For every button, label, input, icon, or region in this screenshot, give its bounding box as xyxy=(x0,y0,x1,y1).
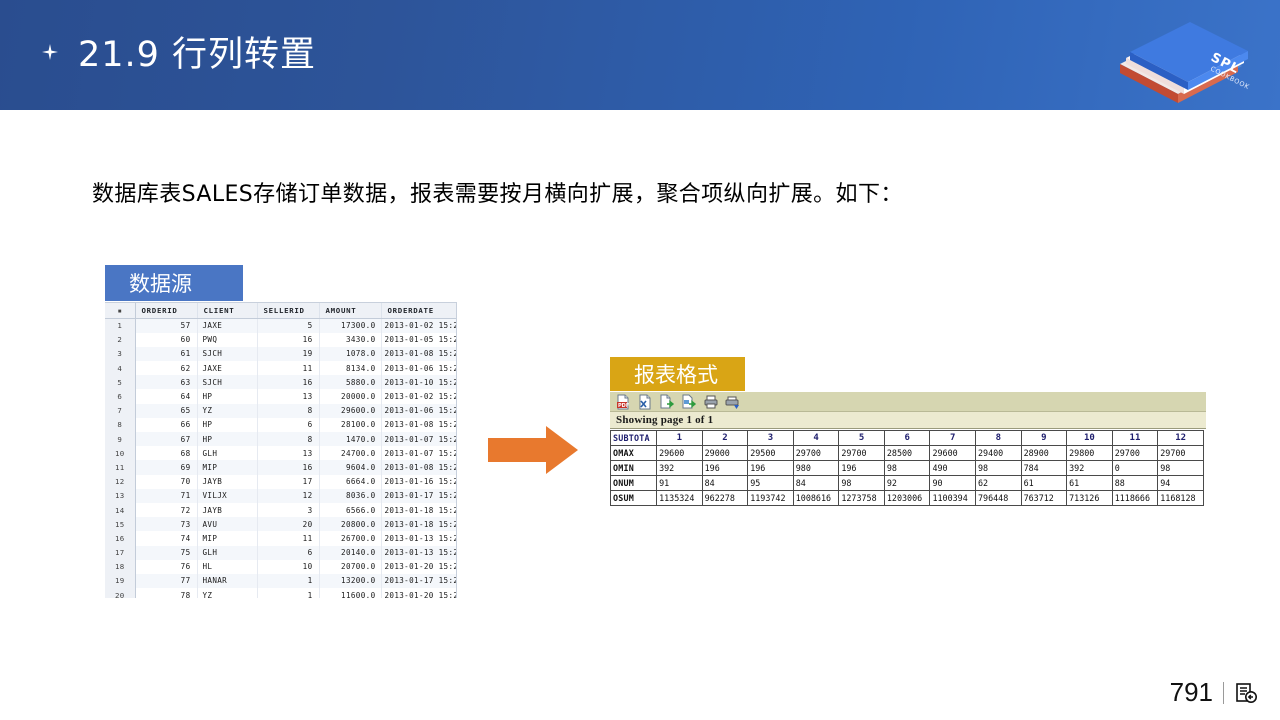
report-column-header-month-7: 7 xyxy=(930,431,976,446)
report-cell: 1193742 xyxy=(748,491,794,506)
row-index: 5 xyxy=(105,375,135,389)
datasource-table-panel: ▪ ORDERID CLIENT SELLERID AMOUNT ORDERDA… xyxy=(105,302,457,598)
cell-sellerid: 1 xyxy=(257,588,319,598)
cell-amount: 8134.0 xyxy=(319,361,381,375)
row-index: 1 xyxy=(105,319,135,333)
report-cell: 29700 xyxy=(793,446,839,461)
cell-client: GLH xyxy=(197,446,257,460)
export-pdf-icon[interactable]: PDF xyxy=(615,394,631,410)
cell-amount: 1470.0 xyxy=(319,432,381,446)
report-label: 报表格式 xyxy=(610,357,745,391)
report-cell: 392 xyxy=(1067,461,1113,476)
cell-amount: 29600.0 xyxy=(319,404,381,418)
cell-client: JAYB xyxy=(197,503,257,517)
slide-header: 21.9 行列转置 SPL COOKBOOK xyxy=(0,0,1280,110)
cell-orderid: 75 xyxy=(135,546,197,560)
report-panel: PDF xyxy=(610,392,1206,510)
cell-orderid: 72 xyxy=(135,503,197,517)
cell-orderid: 60 xyxy=(135,333,197,347)
cell-client: VILJX xyxy=(197,489,257,503)
table-row[interactable]: 1068GLH1324700.02013-01-07 15:28:05 xyxy=(105,446,457,460)
table-row[interactable]: 1977HANAR113200.02013-01-17 15:28:05 xyxy=(105,574,457,588)
report-cell: 84 xyxy=(702,476,748,491)
cell-orderdate: 2013-01-17 15:28:05 xyxy=(381,489,457,503)
column-header-client: CLIENT xyxy=(197,303,257,319)
report-cell: 29700 xyxy=(839,446,885,461)
cell-sellerid: 6 xyxy=(257,418,319,432)
report-cell: 98 xyxy=(839,476,885,491)
cell-sellerid: 13 xyxy=(257,446,319,460)
row-index: 20 xyxy=(105,588,135,598)
report-cell: 98 xyxy=(884,461,930,476)
report-table-row[interactable]: OMIN3921961969801969849098784392098 xyxy=(611,461,1204,476)
report-cell: 196 xyxy=(748,461,794,476)
footer-divider xyxy=(1223,682,1224,704)
cell-amount: 20000.0 xyxy=(319,389,381,403)
cell-sellerid: 16 xyxy=(257,333,319,347)
report-cell: 61 xyxy=(1021,476,1067,491)
cell-amount: 26700.0 xyxy=(319,531,381,545)
report-cell: 29700 xyxy=(1158,446,1204,461)
report-corner-header: SUBTOTA xyxy=(611,431,657,446)
cell-amount: 20140.0 xyxy=(319,546,381,560)
row-index: 7 xyxy=(105,404,135,418)
table-row[interactable]: 1371VILJX128036.02013-01-17 15:28:05 xyxy=(105,489,457,503)
table-row[interactable]: 765YZ829600.02013-01-06 15:28:05 xyxy=(105,404,457,418)
column-header-amount: AMOUNT xyxy=(319,303,381,319)
report-cell: 196 xyxy=(702,461,748,476)
report-cell: 62 xyxy=(976,476,1022,491)
cell-orderid: 73 xyxy=(135,517,197,531)
cell-orderdate: 2013-01-20 15:28:05 xyxy=(381,588,457,598)
table-row[interactable]: 157JAXE517300.02013-01-02 15:28:05 xyxy=(105,319,457,333)
row-index: 17 xyxy=(105,546,135,560)
report-cell: 1100394 xyxy=(930,491,976,506)
cell-amount: 6664.0 xyxy=(319,475,381,489)
cell-orderdate: 2013-01-02 15:28:05 xyxy=(381,389,457,403)
report-column-header-month-9: 9 xyxy=(1021,431,1067,446)
cell-orderid: 68 xyxy=(135,446,197,460)
row-index: 13 xyxy=(105,489,135,503)
cell-sellerid: 12 xyxy=(257,489,319,503)
cell-sellerid: 17 xyxy=(257,475,319,489)
report-cell: 980 xyxy=(793,461,839,476)
row-index: 8 xyxy=(105,418,135,432)
report-cell: 28500 xyxy=(884,446,930,461)
report-cell: 90 xyxy=(930,476,976,491)
cell-amount: 20700.0 xyxy=(319,560,381,574)
report-table-row[interactable]: ONUM918495849892906261618894 xyxy=(611,476,1204,491)
report-table: SUBTOTA 123456789101112 OMAX296002900029… xyxy=(610,430,1204,506)
cell-client: HP xyxy=(197,389,257,403)
cell-orderid: 62 xyxy=(135,361,197,375)
report-column-header-month-4: 4 xyxy=(793,431,839,446)
report-header-row: SUBTOTA 123456789101112 xyxy=(611,431,1204,446)
table-row[interactable]: 462JAXE118134.02013-01-06 15:28:05 xyxy=(105,361,457,375)
table-row[interactable]: 866HP628100.02013-01-08 15:28:05 xyxy=(105,418,457,432)
cell-client: JAXE xyxy=(197,361,257,375)
cell-orderdate: 2013-01-10 15:28:05 xyxy=(381,375,457,389)
slide: 21.9 行列转置 SPL COOKBOOK xyxy=(0,0,1280,720)
cell-orderdate: 2013-01-17 15:28:05 xyxy=(381,574,457,588)
cell-orderid: 63 xyxy=(135,375,197,389)
cell-orderid: 70 xyxy=(135,475,197,489)
cell-orderdate: 2013-01-13 15:28:05 xyxy=(381,546,457,560)
row-index: 19 xyxy=(105,574,135,588)
cell-sellerid: 6 xyxy=(257,546,319,560)
report-column-header-month-11: 11 xyxy=(1112,431,1158,446)
report-cell: 1135324 xyxy=(657,491,703,506)
row-index: 11 xyxy=(105,460,135,474)
report-cell: 29600 xyxy=(657,446,703,461)
export-word-icon[interactable] xyxy=(659,394,675,410)
cell-client: YZ xyxy=(197,588,257,598)
row-index: 18 xyxy=(105,560,135,574)
cell-sellerid: 3 xyxy=(257,503,319,517)
table-row[interactable]: 1674MIP1126700.02013-01-13 15:28:05 xyxy=(105,531,457,545)
report-row-header: OSUM xyxy=(611,491,657,506)
table-row[interactable]: 1169MIP169604.02013-01-08 15:28:05 xyxy=(105,460,457,474)
cell-orderid: 76 xyxy=(135,560,197,574)
cell-amount: 24700.0 xyxy=(319,446,381,460)
report-cell: 1168128 xyxy=(1158,491,1204,506)
cell-orderid: 65 xyxy=(135,404,197,418)
cell-client: JAXE xyxy=(197,319,257,333)
report-column-header-month-3: 3 xyxy=(748,431,794,446)
report-column-header-month-8: 8 xyxy=(976,431,1022,446)
cell-orderid: 69 xyxy=(135,460,197,474)
cell-client: HP xyxy=(197,432,257,446)
cell-amount: 8036.0 xyxy=(319,489,381,503)
cell-sellerid: 11 xyxy=(257,361,319,375)
cell-amount: 17300.0 xyxy=(319,319,381,333)
export-excel-icon[interactable] xyxy=(637,394,653,410)
report-column-header-month-6: 6 xyxy=(884,431,930,446)
report-cell: 98 xyxy=(976,461,1022,476)
cell-orderdate: 2013-01-18 15:28:05 xyxy=(381,517,457,531)
row-index: 9 xyxy=(105,432,135,446)
cell-sellerid: 11 xyxy=(257,531,319,545)
report-table-body: OMAX296002900029500297002970028500296002… xyxy=(611,446,1204,506)
report-cell: 29600 xyxy=(930,446,976,461)
report-cell: 784 xyxy=(1021,461,1067,476)
cell-client: SJCH xyxy=(197,375,257,389)
document-back-icon[interactable] xyxy=(1234,681,1258,705)
table-row[interactable]: 260PWQ163430.02013-01-05 15:28:05 xyxy=(105,333,457,347)
export-image-icon[interactable] xyxy=(681,394,697,410)
cell-client: GLH xyxy=(197,546,257,560)
cell-client: HP xyxy=(197,418,257,432)
cell-orderid: 57 xyxy=(135,319,197,333)
report-cell: 1008616 xyxy=(793,491,839,506)
report-cell: 88 xyxy=(1112,476,1158,491)
table-row[interactable]: 563SJCH165880.02013-01-10 15:28:05 xyxy=(105,375,457,389)
report-cell: 84 xyxy=(793,476,839,491)
report-cell: 392 xyxy=(657,461,703,476)
row-index: 2 xyxy=(105,333,135,347)
cell-client: HANAR xyxy=(197,574,257,588)
spl-cookbook-logo: SPL COOKBOOK xyxy=(1092,8,1262,110)
cell-amount: 3430.0 xyxy=(319,333,381,347)
cell-sellerid: 1 xyxy=(257,574,319,588)
row-index: 15 xyxy=(105,517,135,531)
datasource-table: ▪ ORDERID CLIENT SELLERID AMOUNT ORDERDA… xyxy=(105,303,457,598)
cell-orderdate: 2013-01-20 15:28:05 xyxy=(381,560,457,574)
cell-orderid: 77 xyxy=(135,574,197,588)
table-row[interactable]: 1573AVU2020800.02013-01-18 15:28:05 xyxy=(105,517,457,531)
cell-orderid: 74 xyxy=(135,531,197,545)
svg-text:PDF: PDF xyxy=(618,403,629,409)
column-header-sellerid: SELLERID xyxy=(257,303,319,319)
cell-amount: 11600.0 xyxy=(319,588,381,598)
report-cell: 91 xyxy=(657,476,703,491)
datasource-label: 数据源 xyxy=(105,265,243,301)
report-cell: 196 xyxy=(839,461,885,476)
datasource-table-body: 157JAXE517300.02013-01-02 15:28:05260PWQ… xyxy=(105,319,457,599)
report-cell: 61 xyxy=(1067,476,1113,491)
cell-sellerid: 10 xyxy=(257,560,319,574)
cell-amount: 6566.0 xyxy=(319,503,381,517)
report-column-header-month-12: 12 xyxy=(1158,431,1204,446)
cell-amount: 1078.0 xyxy=(319,347,381,361)
row-index: 3 xyxy=(105,347,135,361)
report-table-row[interactable]: OSUM113532496227811937421008616127375812… xyxy=(611,491,1204,506)
report-cell: 1273758 xyxy=(839,491,885,506)
cell-orderid: 61 xyxy=(135,347,197,361)
report-column-header-month-1: 1 xyxy=(657,431,703,446)
cell-amount: 9604.0 xyxy=(319,460,381,474)
cell-orderdate: 2013-01-18 15:28:05 xyxy=(381,503,457,517)
cell-client: JAYB xyxy=(197,475,257,489)
report-cell: 95 xyxy=(748,476,794,491)
report-cell: 28900 xyxy=(1021,446,1067,461)
cell-orderid: 78 xyxy=(135,588,197,598)
cell-orderdate: 2013-01-06 15:28:05 xyxy=(381,361,457,375)
report-grid-wrap: SUBTOTA 123456789101112 OMAX296002900029… xyxy=(610,429,1206,506)
sparkle-icon xyxy=(40,42,60,62)
cell-orderid: 71 xyxy=(135,489,197,503)
row-index: 6 xyxy=(105,389,135,403)
cell-client: SJCH xyxy=(197,347,257,361)
table-row[interactable]: 1270JAYB176664.02013-01-16 15:28:05 xyxy=(105,475,457,489)
row-index: 14 xyxy=(105,503,135,517)
cell-orderdate: 2013-01-06 15:28:05 xyxy=(381,404,457,418)
report-column-header-month-2: 2 xyxy=(702,431,748,446)
table-row[interactable]: 664HP1320000.02013-01-02 15:28:05 xyxy=(105,389,457,403)
print-icon[interactable] xyxy=(703,394,719,410)
table-row[interactable]: 1472JAYB36566.02013-01-18 15:28:05 xyxy=(105,503,457,517)
report-cell: 29000 xyxy=(702,446,748,461)
cell-sellerid: 8 xyxy=(257,404,319,418)
cell-amount: 20800.0 xyxy=(319,517,381,531)
table-row[interactable]: 1775GLH620140.02013-01-13 15:28:05 xyxy=(105,546,457,560)
report-cell: 1118666 xyxy=(1112,491,1158,506)
cell-client: YZ xyxy=(197,404,257,418)
cell-orderdate: 2013-01-08 15:28:05 xyxy=(381,460,457,474)
cell-orderid: 67 xyxy=(135,432,197,446)
cell-client: MIP xyxy=(197,460,257,474)
report-column-header-month-10: 10 xyxy=(1067,431,1113,446)
title-row: 21.9 行列转置 xyxy=(40,26,316,77)
report-cell: 92 xyxy=(884,476,930,491)
cell-orderdate: 2013-01-16 15:28:05 xyxy=(381,475,457,489)
report-cell: 796448 xyxy=(976,491,1022,506)
right-arrow-icon xyxy=(488,424,580,476)
report-row-header: ONUM xyxy=(611,476,657,491)
column-header-orderdate: ORDERDATE xyxy=(381,303,457,319)
report-cell: 490 xyxy=(930,461,976,476)
report-toolbar: PDF xyxy=(610,392,1206,412)
cell-sellerid: 5 xyxy=(257,319,319,333)
cell-orderdate: 2013-01-13 15:28:05 xyxy=(381,531,457,545)
cell-orderdate: 2013-01-08 15:28:05 xyxy=(381,347,457,361)
report-row-header: OMAX xyxy=(611,446,657,461)
report-cell: 763712 xyxy=(1021,491,1067,506)
cell-orderdate: 2013-01-07 15:28:05 xyxy=(381,432,457,446)
page-number: 791 xyxy=(1170,677,1213,708)
cell-orderdate: 2013-01-07 15:28:05 xyxy=(381,446,457,460)
report-status-bar: Showing page 1 of 1 xyxy=(610,412,1206,429)
cell-sellerid: 16 xyxy=(257,375,319,389)
report-cell: 29800 xyxy=(1067,446,1113,461)
cell-sellerid: 8 xyxy=(257,432,319,446)
report-column-header-month-5: 5 xyxy=(839,431,885,446)
row-index: 12 xyxy=(105,475,135,489)
cell-amount: 28100.0 xyxy=(319,418,381,432)
cell-sellerid: 20 xyxy=(257,517,319,531)
report-cell: 1203006 xyxy=(884,491,930,506)
cell-sellerid: 16 xyxy=(257,460,319,474)
body-paragraph: 数据库表SALES存储订单数据，报表需要按月横向扩展，聚合项纵向扩展。如下： xyxy=(92,176,903,208)
table-header-row: ▪ ORDERID CLIENT SELLERID AMOUNT ORDERDA… xyxy=(105,303,457,319)
cell-client: AVU xyxy=(197,517,257,531)
cell-client: MIP xyxy=(197,531,257,545)
report-cell: 0 xyxy=(1112,461,1158,476)
report-table-row[interactable]: OMAX296002900029500297002970028500296002… xyxy=(611,446,1204,461)
cell-orderdate: 2013-01-05 15:28:05 xyxy=(381,333,457,347)
report-cell: 29400 xyxy=(976,446,1022,461)
cell-orderid: 66 xyxy=(135,418,197,432)
row-index: 16 xyxy=(105,531,135,545)
report-cell: 98 xyxy=(1158,461,1204,476)
report-cell: 29700 xyxy=(1112,446,1158,461)
table-row[interactable]: 967HP81470.02013-01-07 15:28:05 xyxy=(105,432,457,446)
column-header-index: ▪ xyxy=(105,303,135,319)
report-cell: 29500 xyxy=(748,446,794,461)
row-index: 10 xyxy=(105,446,135,460)
table-row[interactable]: 361SJCH191078.02013-01-08 15:28:05 xyxy=(105,347,457,361)
cell-sellerid: 19 xyxy=(257,347,319,361)
cell-orderid: 64 xyxy=(135,389,197,403)
cell-amount: 13200.0 xyxy=(319,574,381,588)
report-cell: 713126 xyxy=(1067,491,1113,506)
column-header-orderid: ORDERID xyxy=(135,303,197,319)
table-row[interactable]: 2078YZ111600.02013-01-20 15:28:05 xyxy=(105,588,457,598)
slide-footer: 791 xyxy=(1170,677,1258,708)
report-cell: 962278 xyxy=(702,491,748,506)
cell-orderdate: 2013-01-08 15:28:05 xyxy=(381,418,457,432)
table-row[interactable]: 1876HL1020700.02013-01-20 15:28:05 xyxy=(105,560,457,574)
cell-amount: 5880.0 xyxy=(319,375,381,389)
print-setup-icon[interactable] xyxy=(725,394,741,410)
page-title: 21.9 行列转置 xyxy=(78,26,316,77)
report-row-header: OMIN xyxy=(611,461,657,476)
cell-sellerid: 13 xyxy=(257,389,319,403)
cell-orderdate: 2013-01-02 15:28:05 xyxy=(381,319,457,333)
cell-client: PWQ xyxy=(197,333,257,347)
cell-client: HL xyxy=(197,560,257,574)
row-index: 4 xyxy=(105,361,135,375)
report-cell: 94 xyxy=(1158,476,1204,491)
